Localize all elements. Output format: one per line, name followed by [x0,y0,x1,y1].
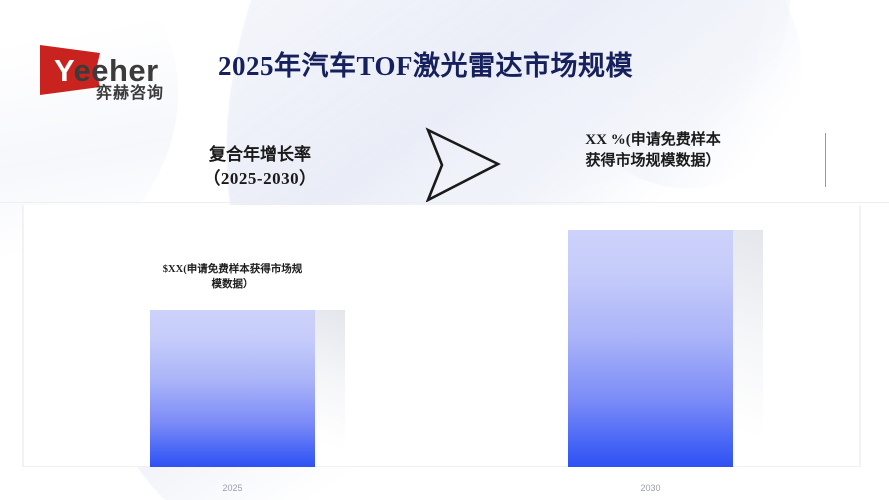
x-tick-label-2030: 2030 [591,483,711,493]
logo-wordmark: Yeeher [54,55,159,86]
page-title: 2025年汽车TOF激光雷达市场规模 [218,44,633,83]
chart-panel-right-border [860,205,861,467]
market-size-callout-line1: XX %(申请免费样本 [538,130,768,151]
horizontal-section-rule [0,202,889,203]
cagr-callout-line2: （2025-2030） [150,167,370,191]
bar-2025[interactable] [150,310,315,467]
bar-shadow-2030 [733,230,763,467]
bar-2030[interactable] [568,230,733,467]
arrow-right-icon [420,124,506,206]
bar-data-label-2025-line2: 模数据） [133,277,333,292]
cagr-callout: 复合年增长率 （2025-2030） [150,143,370,191]
bar-data-label-2025-line1: $XX(申请免费样本获得市场规 [133,262,333,277]
chart-baseline [22,466,860,467]
logo-wordmark-cn: 弈赫咨询 [96,86,164,102]
market-size-callout: XX %(申请免费样本 获得市场规模数据） [538,130,768,173]
bar-data-label-2025: $XX(申请免费样本获得市场规 模数据） [133,262,333,292]
bar-shadow-2025 [315,310,345,467]
bar-group-2030: 2030 [568,205,733,467]
logo-wordmark-rest: eeher [73,53,158,88]
bar-group-2025: $XX(申请免费样本获得市场规 模数据） 2025 [150,205,315,467]
background-swoosh-5 [516,0,843,229]
slide-canvas: Yeeher 弈赫咨询 2025年汽车TOF激光雷达市场规模 复合年增长率 （2… [0,0,889,500]
logo-wordmark-lead: Y [54,53,73,88]
vertical-accent-rule [825,133,826,187]
x-tick-label-2025: 2025 [173,483,293,493]
cagr-callout-line1: 复合年增长率 [150,143,370,167]
bar-chart-plot: $XX(申请免费样本获得市场规 模数据） 2025 2030 [22,205,860,467]
market-size-callout-line2: 获得市场规模数据） [538,151,768,172]
brand-logo: Yeeher 弈赫咨询 [38,42,198,108]
